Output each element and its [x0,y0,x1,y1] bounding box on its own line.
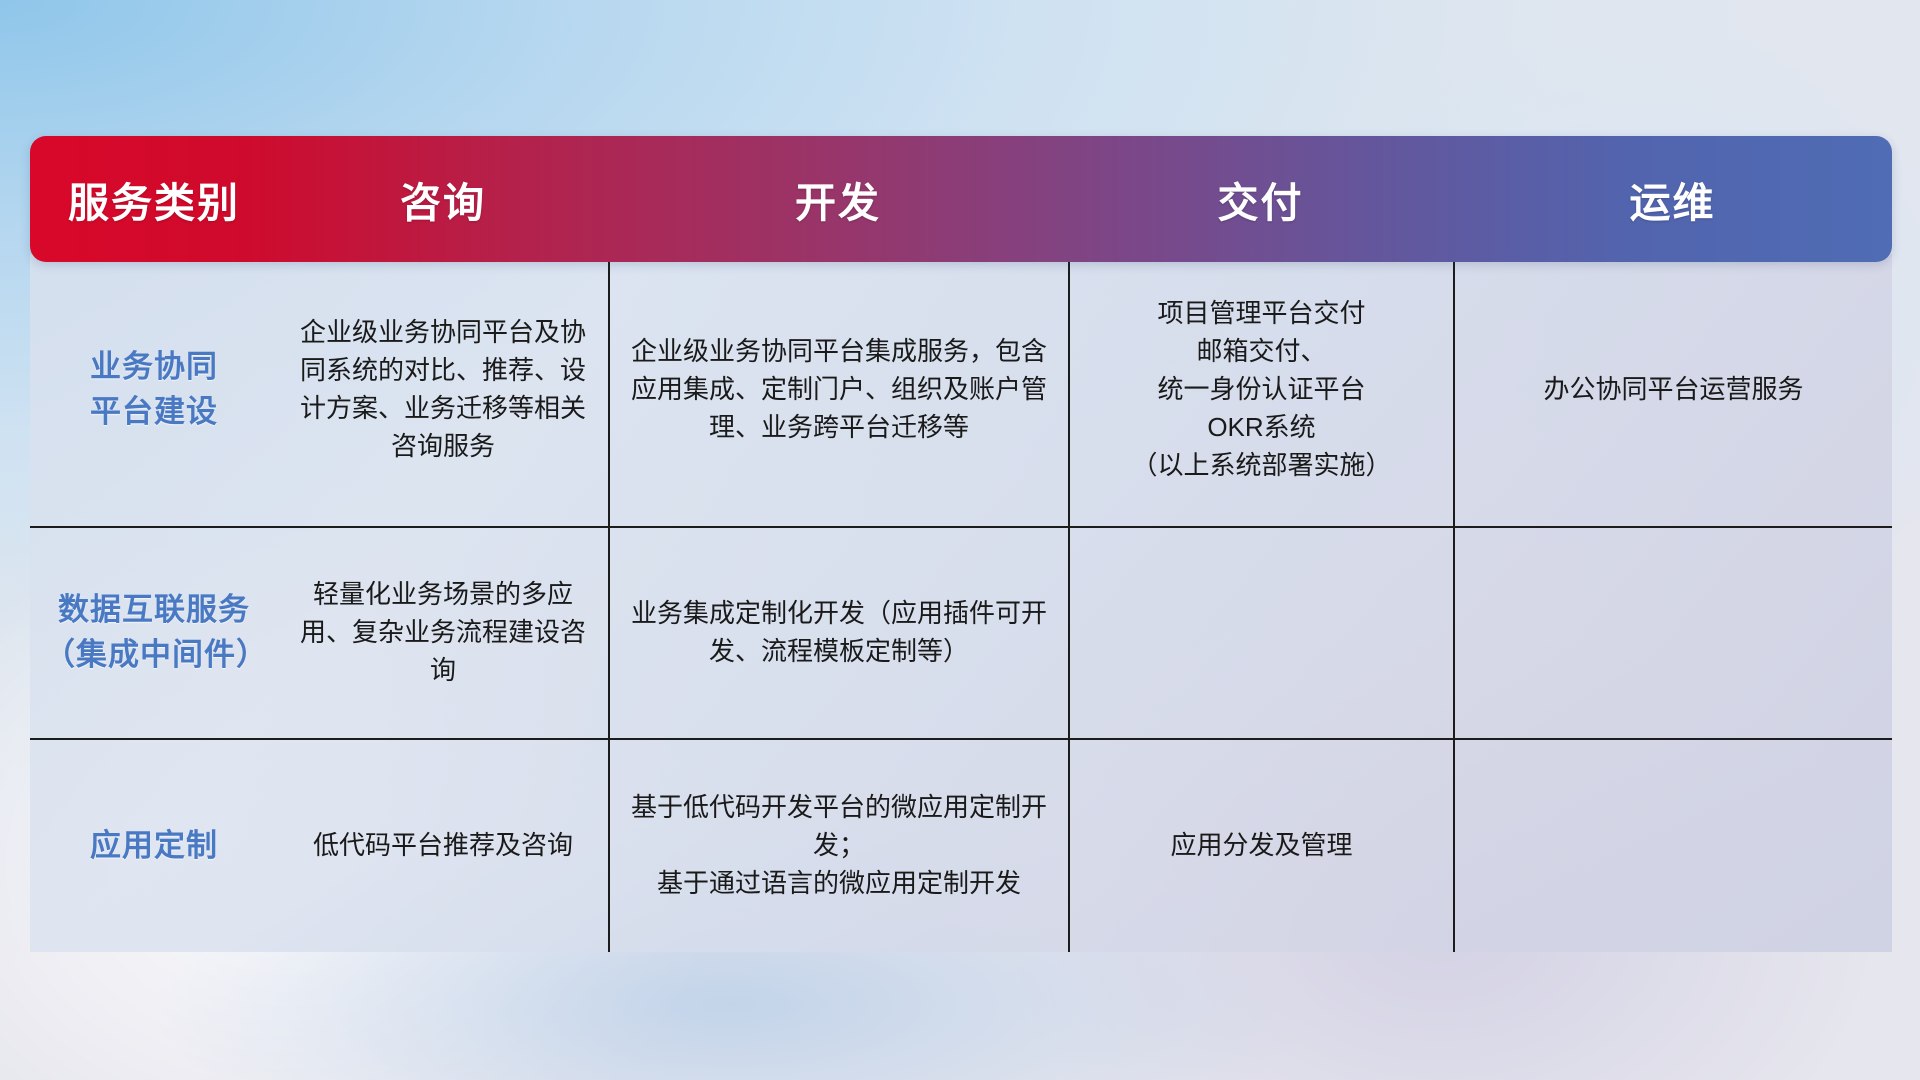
cell-delivery: 项目管理平台交付 邮箱交付、 统一身份认证平台 OKR系统 （以上系统部署实施） [1068,254,1453,526]
row-category-label: 应用定制 [30,740,278,952]
column-header-development: 开发 [608,136,1068,262]
cell-development: 基于低代码开发平台的微应用定制开发； 基于通过语言的微应用定制开发 [608,740,1068,952]
table-body: 业务协同 平台建设 企业级业务协同平台及协同系统的对比、推荐、设计方案、业务迁移… [30,254,1892,952]
column-header-delivery: 交付 [1068,136,1453,262]
cell-consulting: 低代码平台推荐及咨询 [278,740,608,952]
column-header-consulting: 咨询 [278,136,608,262]
column-header-operations: 运维 [1453,136,1892,262]
cell-delivery [1068,528,1453,738]
table-row: 业务协同 平台建设 企业级业务协同平台及协同系统的对比、推荐、设计方案、业务迁移… [30,254,1892,526]
service-matrix-table: 服务类别 咨询 开发 交付 运维 业务协同 平台建设 企业级业务协同平台及协同系… [30,136,1892,952]
cell-operations [1453,528,1892,738]
cell-consulting: 轻量化业务场景的多应用、复杂业务流程建设咨询 [278,528,608,738]
cell-operations [1453,740,1892,952]
cell-development: 企业级业务协同平台集成服务，包含应用集成、定制门户、组织及账户管理、业务跨平台迁… [608,254,1068,526]
table-row: 数据互联服务 （集成中间件） 轻量化业务场景的多应用、复杂业务流程建设咨询 业务… [30,526,1892,738]
column-header-category: 服务类别 [30,136,278,262]
table-header-row: 服务类别 咨询 开发 交付 运维 [30,136,1892,262]
row-category-label: 数据互联服务 （集成中间件） [30,528,278,738]
cell-development: 业务集成定制化开发（应用插件可开发、流程模板定制等） [608,528,1068,738]
row-category-label: 业务协同 平台建设 [30,254,278,526]
cell-consulting: 企业级业务协同平台及协同系统的对比、推荐、设计方案、业务迁移等相关咨询服务 [278,254,608,526]
cell-operations: 办公协同平台运营服务 [1453,254,1892,526]
cell-delivery: 应用分发及管理 [1068,740,1453,952]
table-row: 应用定制 低代码平台推荐及咨询 基于低代码开发平台的微应用定制开发； 基于通过语… [30,738,1892,952]
